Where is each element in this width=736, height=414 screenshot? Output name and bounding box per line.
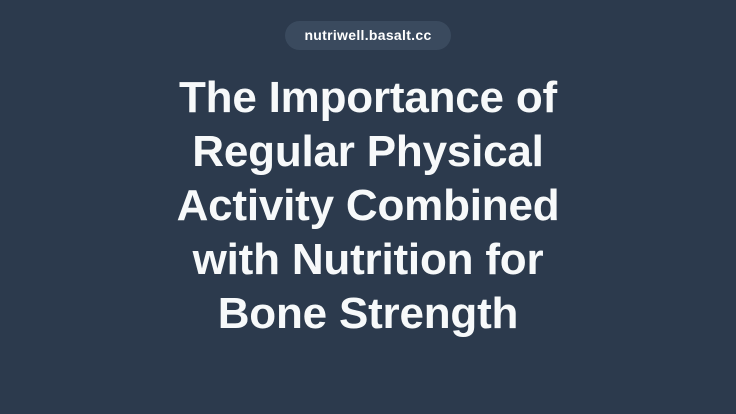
title-card: nutriwell.basalt.cc The Importance of Re…	[0, 0, 736, 414]
page-title-line: Bone Strength	[24, 287, 712, 341]
page-title: The Importance of Regular Physical Activ…	[0, 71, 736, 341]
page-title-line: Activity Combined	[24, 179, 712, 233]
page-title-line: The Importance of	[24, 71, 712, 125]
site-domain-badge: nutriwell.basalt.cc	[285, 21, 450, 50]
page-title-line: Regular Physical	[24, 125, 712, 179]
page-title-line: with Nutrition for	[24, 233, 712, 287]
